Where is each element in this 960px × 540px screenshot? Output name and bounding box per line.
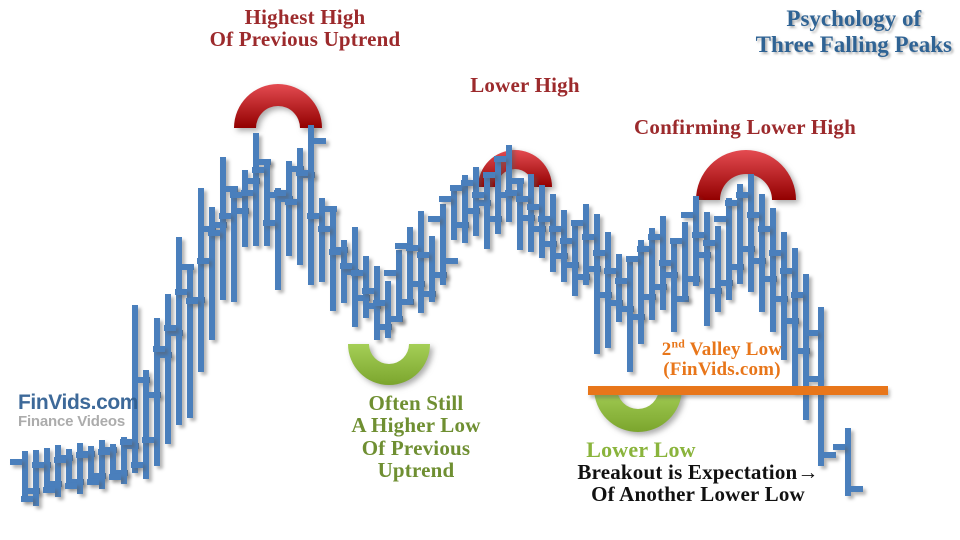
ohlc-open-tick [659, 260, 671, 266]
ohlc-open-tick [571, 220, 583, 226]
ohlc-open-tick [758, 226, 770, 232]
annotation-breakout: Breakout is Expectation→ Of Another Lowe… [528, 461, 868, 506]
chart-canvas: FinVids.com Finance Videos Highest High … [0, 0, 960, 540]
ohlc-high-low-stem [187, 267, 193, 418]
ohlc-open-tick [318, 226, 330, 232]
ohlc-open-tick [527, 204, 539, 210]
ohlc-open-tick [615, 278, 627, 284]
ohlc-open-tick [65, 483, 77, 489]
watermark-tagline: Finance Videos [18, 414, 138, 429]
ohlc-open-tick [626, 256, 638, 262]
ohlc-high-low-stem [561, 210, 567, 282]
ohlc-open-tick [263, 220, 275, 226]
ohlc-high-low-stem [583, 204, 589, 285]
ohlc-open-tick [593, 250, 605, 256]
ohlc-open-tick [736, 192, 748, 198]
ohlc-open-tick [351, 270, 363, 276]
ohlc-open-tick [670, 238, 682, 244]
ohlc-high-low-stem [231, 186, 237, 302]
ohlc-open-tick [791, 292, 803, 298]
ohlc-open-tick [494, 156, 506, 162]
ohlc-open-tick [714, 216, 726, 222]
ohlc-close-tick [446, 258, 458, 264]
ohlc-open-tick [340, 263, 352, 269]
ohlc-open-tick [692, 232, 704, 238]
ohlc-open-tick [142, 437, 154, 443]
ohlc-open-tick [769, 250, 781, 256]
ohlc-open-tick [538, 216, 550, 222]
ohlc-high-low-stem [220, 157, 226, 300]
annotation-lower-low: Lower Low [556, 438, 726, 462]
ohlc-high-low-stem [484, 178, 490, 249]
ohlc-close-tick [314, 138, 326, 144]
ohlc-open-tick [637, 246, 649, 252]
ohlc-high-low-stem [33, 450, 39, 506]
ohlc-high-low-stem [154, 318, 160, 466]
ohlc-open-tick [32, 462, 44, 468]
watermark: FinVids.com Finance Videos [18, 392, 138, 429]
ohlc-high-low-stem [759, 194, 765, 312]
ohlc-high-low-stem [671, 244, 677, 332]
ohlc-open-tick [428, 216, 440, 222]
ohlc-open-tick [131, 462, 143, 468]
ohlc-open-tick [285, 199, 297, 205]
ohlc-open-tick [109, 474, 121, 480]
ohlc-open-tick [10, 459, 22, 465]
annotation-often-still: Often Still A Higher Low Of Previous Upt… [318, 392, 514, 482]
ohlc-high-low-stem [440, 204, 446, 285]
ohlc-high-low-stem [407, 227, 413, 304]
ohlc-high-low-stem [264, 159, 270, 246]
ohlc-open-tick [406, 245, 418, 251]
ohlc-high-low-stem [330, 209, 336, 311]
annotation-highest-high: Highest High Of Previous Uptrend [190, 6, 420, 51]
annotation-confirming-high: Confirming Lower High [595, 116, 895, 138]
ohlc-open-tick [197, 258, 209, 264]
ohlc-open-tick [833, 444, 845, 450]
ohlc-open-tick [806, 330, 818, 336]
ohlc-high-low-stem [770, 208, 776, 332]
ohlc-open-tick [582, 234, 594, 240]
ohlc-open-tick [747, 212, 759, 218]
ohlc-open-tick [208, 230, 220, 236]
ohlc-open-tick [472, 192, 484, 198]
ohlc-high-low-stem [55, 445, 61, 497]
ohlc-high-low-stem [748, 174, 754, 292]
ohlc-open-tick [43, 487, 55, 493]
ohlc-open-tick [461, 180, 473, 186]
ohlc-open-tick [219, 213, 231, 219]
ohlc-high-low-stem [693, 196, 699, 286]
ohlc-open-tick [120, 439, 132, 445]
ohlc-high-low-stem [649, 228, 655, 320]
ohlc-high-low-stem [638, 240, 644, 344]
ohlc-open-tick [560, 238, 572, 244]
ohlc-high-low-stem [737, 184, 743, 284]
ohlc-open-tick [186, 298, 198, 304]
page-title: Psychology of Three Falling Peaks [756, 6, 952, 58]
ohlc-open-tick [307, 213, 319, 219]
ohlc-high-low-stem [143, 370, 149, 479]
ohlc-high-low-stem [594, 214, 600, 354]
ohlc-high-low-stem [572, 222, 578, 296]
ohlc-open-tick [329, 249, 341, 255]
support-resistance-line [588, 386, 888, 395]
ohlc-high-low-stem [429, 236, 435, 302]
ohlc-open-tick [373, 300, 385, 306]
ohlc-open-tick [54, 457, 66, 463]
ohlc-open-tick [76, 452, 88, 458]
ohlc-high-low-stem [418, 211, 424, 313]
ohlc-open-tick [417, 252, 429, 258]
ohlc-high-low-stem [165, 294, 171, 444]
annotation-second-valley-low: 2nd Valley Low(FinVids.com) [632, 340, 812, 381]
ohlc-high-low-stem [704, 212, 710, 326]
ohlc-open-tick [296, 170, 308, 176]
ohlc-open-tick [175, 289, 187, 295]
ohlc-high-low-stem [605, 232, 611, 348]
ohlc-open-tick [604, 268, 616, 274]
ohlc-open-tick [384, 270, 396, 276]
ohlc-open-tick [516, 196, 528, 202]
ohlc-high-low-stem [385, 281, 391, 338]
ohlc-high-low-stem [275, 188, 281, 290]
ohlc-open-tick [549, 226, 561, 232]
ohlc-open-tick [21, 496, 33, 502]
ohlc-close-tick [824, 452, 836, 458]
ohlc-open-tick [681, 212, 693, 218]
ohlc-open-tick [703, 240, 715, 246]
ohlc-open-tick [780, 268, 792, 274]
ohlc-open-tick [98, 449, 110, 455]
ohlc-open-tick [439, 196, 451, 202]
ohlc-high-low-stem [198, 188, 204, 372]
annotation-lower-high: Lower High [440, 74, 610, 96]
ohlc-high-low-stem [451, 188, 457, 240]
ohlc-high-low-stem [726, 198, 732, 300]
ohlc-open-tick [274, 190, 286, 196]
ohlc-high-low-stem [286, 161, 292, 256]
ohlc-open-tick [725, 200, 737, 206]
ohlc-open-tick [483, 172, 495, 178]
ohlc-open-tick [252, 167, 264, 173]
ohlc-high-low-stem [550, 194, 556, 272]
ohlc-high-low-stem [715, 226, 721, 312]
ohlc-open-tick [241, 190, 253, 196]
ohlc-high-low-stem [253, 133, 259, 246]
ohlc-open-tick [164, 325, 176, 331]
ohlc-high-low-stem [528, 174, 534, 252]
ohlc-open-tick [153, 346, 165, 352]
ohlc-high-low-stem [682, 222, 688, 300]
ohlc-open-tick [87, 479, 99, 485]
ohlc-open-tick [362, 288, 374, 294]
ohlc-open-tick [648, 234, 660, 240]
watermark-brand: FinVids.com [18, 392, 138, 413]
ohlc-high-low-stem [297, 148, 303, 265]
ohlc-high-low-stem [308, 125, 314, 285]
ohlc-high-low-stem [396, 250, 402, 322]
ohlc-high-low-stem [352, 227, 358, 327]
ohlc-high-low-stem [132, 305, 138, 473]
